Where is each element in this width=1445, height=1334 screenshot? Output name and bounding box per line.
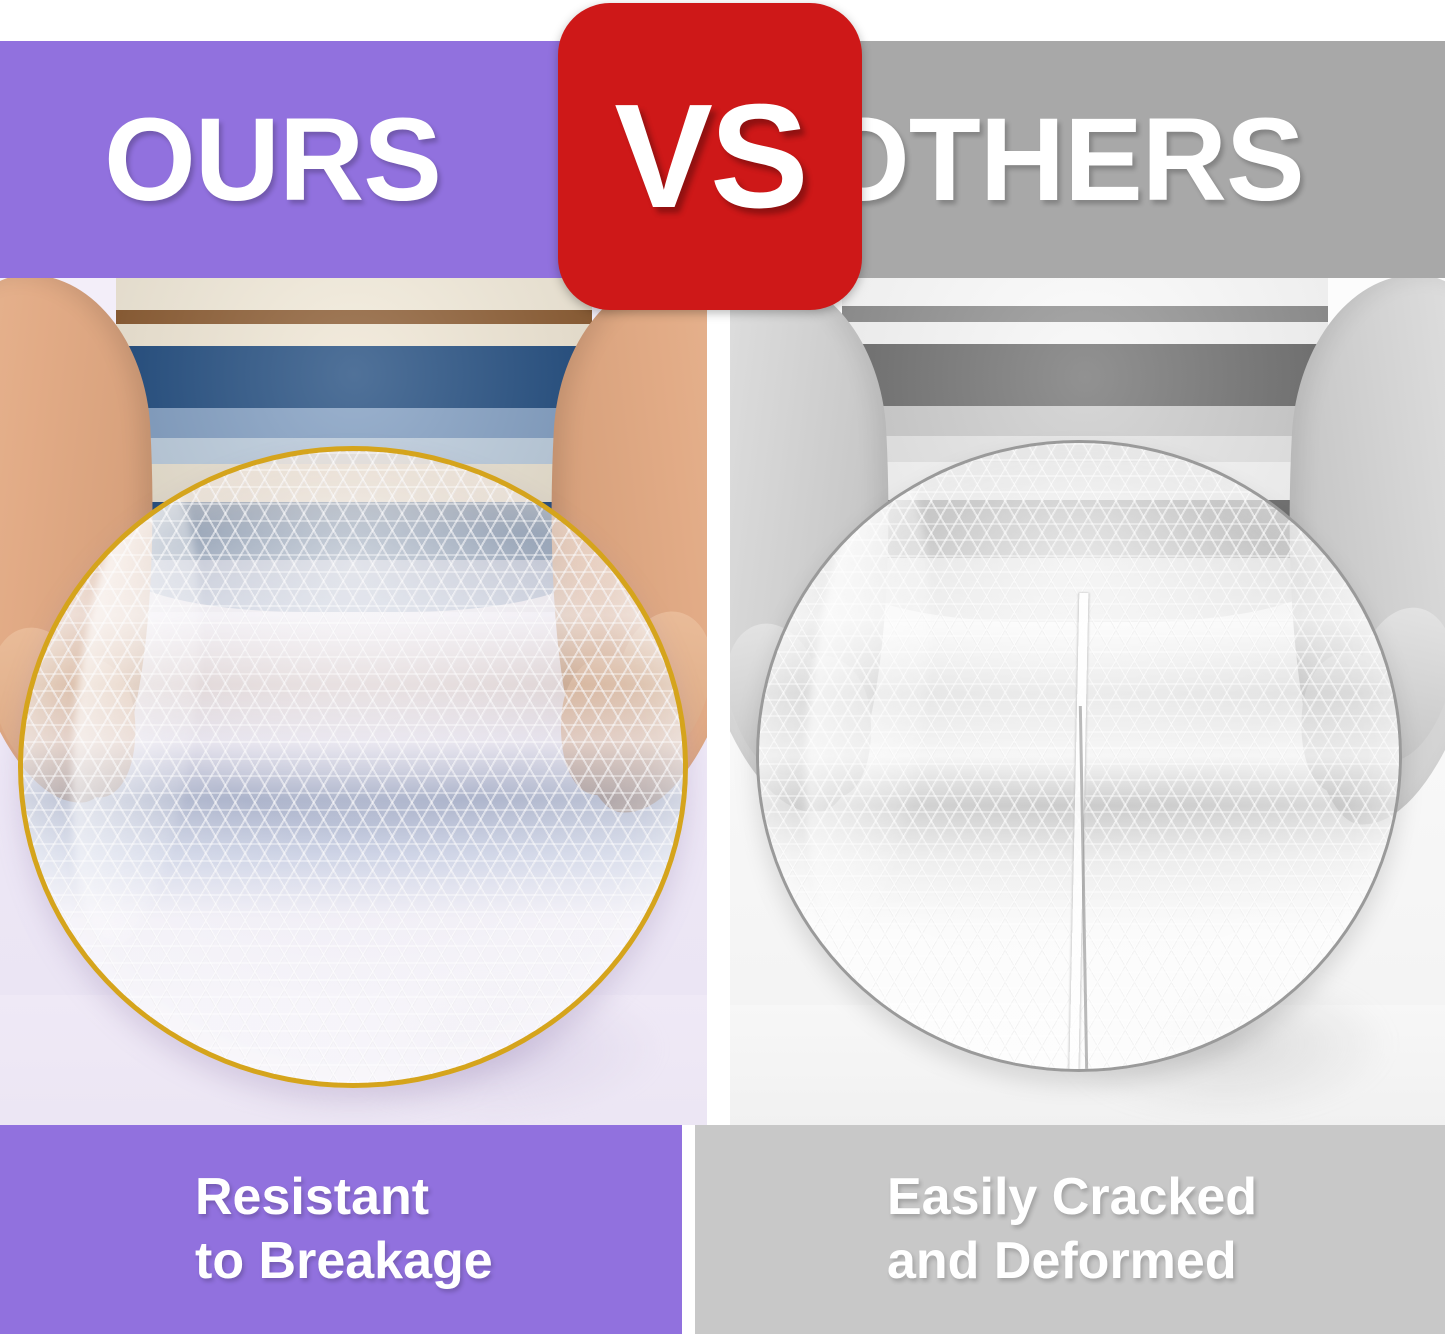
caption-bar-ours: Resistant to Breakage xyxy=(0,1125,682,1334)
photo-comparison-area xyxy=(0,278,1445,1125)
photo-panel-ours xyxy=(0,278,707,1125)
glass-plate-ours xyxy=(18,446,688,1088)
caption-label-ours: Resistant to Breakage xyxy=(195,1166,493,1293)
glass-plate-others xyxy=(756,440,1402,1072)
header-label-others: OTHERS xyxy=(818,101,1304,219)
photo-panel-others xyxy=(730,278,1445,1125)
header-label-ours: OURS xyxy=(104,101,441,219)
vs-badge: VS xyxy=(558,3,862,310)
vs-badge-label: VS xyxy=(614,83,805,231)
caption-label-others: Easily Cracked and Deformed xyxy=(887,1166,1257,1293)
caption-bar-others: Easily Cracked and Deformed xyxy=(695,1125,1445,1334)
comparison-infographic: OURS OTHERS VS xyxy=(0,0,1445,1334)
